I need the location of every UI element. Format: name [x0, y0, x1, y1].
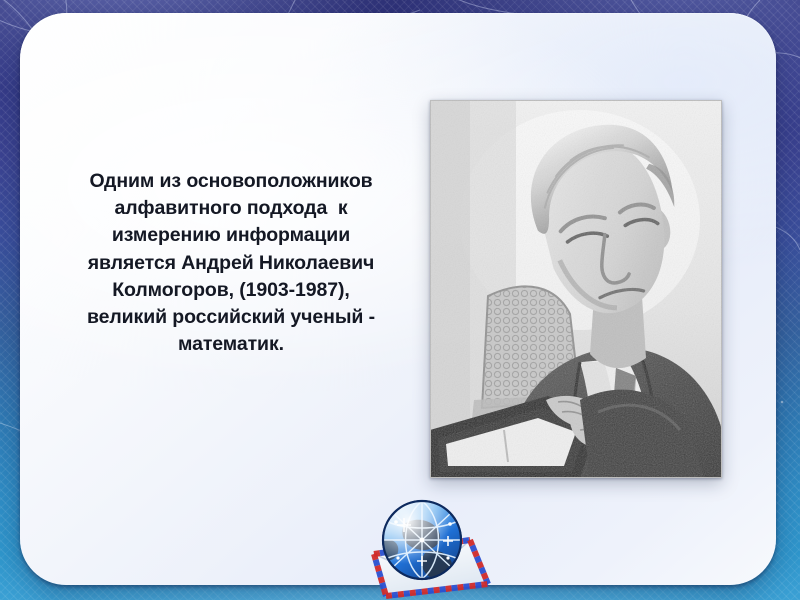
- presentation-slide: Одним из основоположников алфавитного по…: [0, 0, 800, 600]
- body-text: Одним из основоположников алфавитного по…: [56, 168, 406, 358]
- globe-envelope-emblem: [352, 492, 504, 600]
- kolmogorov-photo: [430, 100, 722, 478]
